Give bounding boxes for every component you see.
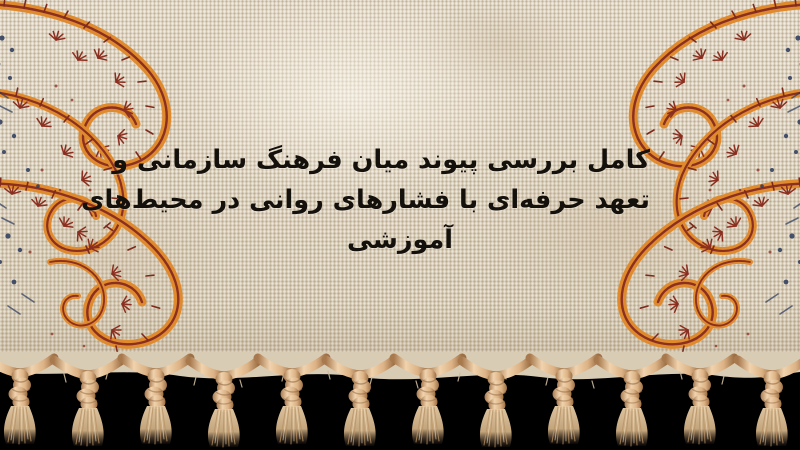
title-line-1: کامل بررسی پیوند میان فرهنگ سازمانی و xyxy=(150,140,650,180)
title-slide: کامل بررسی پیوند میان فرهنگ سازمانی و تع… xyxy=(0,0,800,450)
slide-title: کامل بررسی پیوند میان فرهنگ سازمانی و تع… xyxy=(150,140,650,260)
tassel-fringe xyxy=(0,352,800,450)
title-line-2: تعهد حرفه‌ای با فشارهای روانی در محیط‌ها… xyxy=(150,180,650,220)
title-line-3: آموزشی xyxy=(150,220,650,260)
fringe-tassels xyxy=(0,352,800,450)
